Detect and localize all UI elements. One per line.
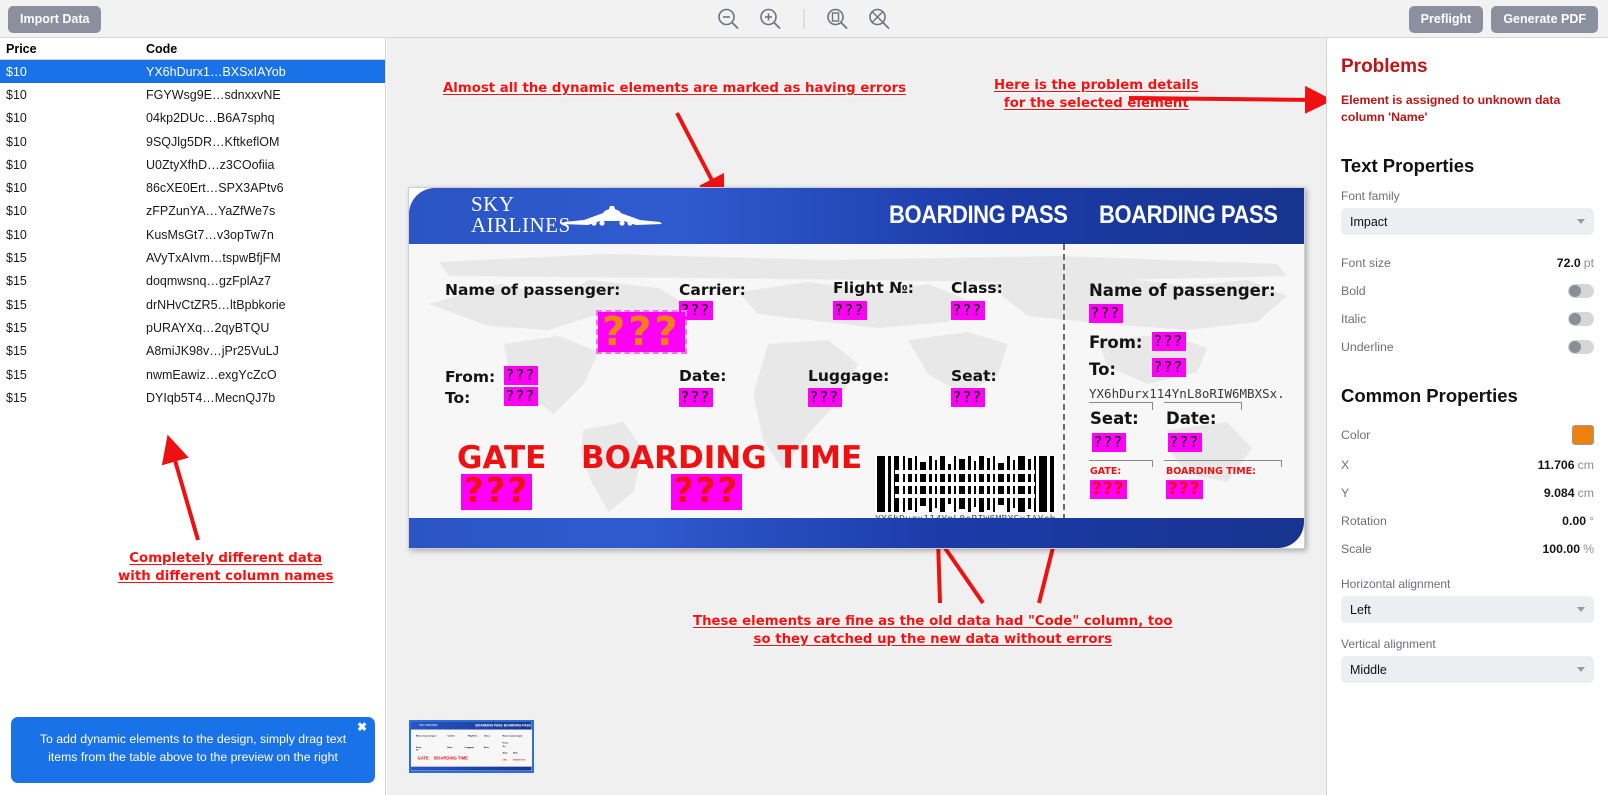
vertical-alignment-select[interactable]: Middle [1341,656,1594,683]
scale-label: Scale [1341,542,1372,556]
stub-field-gate-placeholder[interactable]: ??? [1090,480,1127,499]
font-size-row[interactable]: Font size 72.0pt [1341,249,1594,277]
vertical-alignment-label: Vertical alignment [1341,637,1594,651]
color-swatch[interactable] [1572,425,1594,445]
annotation-different-data: Completely different datawith different … [118,550,333,586]
field-from-placeholder[interactable]: ??? [504,366,538,385]
field-luggage-placeholder[interactable]: ??? [808,388,842,407]
annotation-arrow-left [0,0,400,795]
field-name-of-passenger-selected[interactable]: ??? [598,312,685,352]
label-seat: Seat: [951,367,997,385]
x-row[interactable]: X 11.706cm [1341,451,1594,479]
label-name-of-passenger: Name of passenger: [445,281,620,299]
annotation-problem-details: Here is the problem detailsfor the selec… [994,77,1199,113]
x-value: 11.706 [1538,458,1575,472]
chevron-down-icon [1577,607,1585,612]
zoom-out-icon[interactable] [716,6,742,32]
zoom-fit-page-icon[interactable] [825,6,851,32]
label-class: Class: [951,279,1003,297]
common-properties-title: Common Properties [1341,385,1594,407]
field-date-placeholder[interactable]: ??? [679,388,713,407]
stub-label-from: From: [1089,333,1142,352]
page-thumbnail-preview: SKY AIRLINES BOARDING PASS BOARDING PASS… [411,722,532,771]
x-unit: cm [1578,458,1594,472]
italic-row[interactable]: Italic [1341,305,1594,333]
stub-field-to-placeholder[interactable]: ??? [1152,358,1186,377]
font-size-label: Font size [1341,256,1391,270]
horizontal-alignment-select[interactable]: Left [1341,596,1594,623]
problems-title: Problems [1341,56,1594,78]
label-flight-no: Flight №: [833,279,914,297]
y-label: Y [1341,486,1349,500]
stub-label-name-of-passenger: Name of passenger: [1089,281,1276,300]
design-canvas[interactable]: Almost all the dynamic elements are mark… [387,38,1326,795]
underline-row[interactable]: Underline [1341,333,1594,361]
stub-field-from-placeholder[interactable]: ??? [1152,332,1186,351]
title-boarding-pass-main: BOARDING PASS [889,201,1067,230]
font-family-value: Impact [1350,215,1388,229]
y-row[interactable]: Y 9.084cm [1341,479,1594,507]
zoom-fit-all-icon[interactable] [867,6,893,32]
zoom-controls [716,6,893,32]
zoom-in-icon[interactable] [758,6,784,32]
font-size-value: 72.0 [1557,256,1581,270]
stub-code-text[interactable]: YX6hDurx114YnL8oRIW6MBXSx. [1089,386,1285,401]
field-seat-placeholder[interactable]: ??? [951,388,985,407]
font-family-select[interactable]: Impact [1341,208,1594,235]
label-date: Date: [679,367,726,385]
rotation-value: 0.00 [1562,514,1586,528]
label-from: From: [445,368,495,386]
rotation-row[interactable]: Rotation 0.00° [1341,507,1594,535]
stub-label-seat: Seat: [1090,409,1139,428]
scale-unit: % [1583,542,1594,556]
italic-toggle[interactable] [1568,312,1594,326]
toolbar-divider [804,9,805,29]
color-row[interactable]: Color [1341,419,1594,451]
chevron-down-icon [1577,667,1585,672]
label-carrier: Carrier: [679,281,746,299]
bold-toggle[interactable] [1568,284,1594,298]
horizontal-alignment-label: Horizontal alignment [1341,577,1594,591]
problem-message: Element is assigned to unknown data colu… [1341,92,1594,125]
font-family-label: Font family [1341,189,1594,203]
horizontal-alignment-value: Left [1350,603,1371,617]
document-footer-band [409,518,1304,548]
field-class-placeholder[interactable]: ??? [951,301,985,320]
vertical-alignment-value: Middle [1350,663,1387,677]
stub-label-boarding-time: BOARDING TIME: [1166,466,1256,477]
rotation-label: Rotation [1341,514,1387,528]
bold-row[interactable]: Bold [1341,277,1594,305]
text-properties-title: Text Properties [1341,155,1594,177]
field-boarding-time-placeholder[interactable]: ??? [671,474,742,510]
airplane-icon [554,202,664,232]
preflight-button[interactable]: Preflight [1409,6,1484,33]
toolbar-actions: Preflight Generate PDF [1409,6,1598,33]
underline-toggle[interactable] [1568,340,1594,354]
stub-label-date: Date: [1166,409,1217,428]
stub-field-date-date-placeholder[interactable]: ??? [1168,433,1202,452]
scale-value: 100.00 [1542,542,1580,556]
stub-field-name-placeholder[interactable]: ??? [1089,304,1123,323]
y-unit: cm [1578,486,1594,500]
boarding-pass-document[interactable]: SKYAIRLINES BOARDING PASS BOARDING PASS [408,187,1305,549]
chevron-down-icon [1577,219,1585,224]
barcode-graphic [875,456,1057,512]
label-to: To: [445,389,470,407]
field-to-placeholder[interactable]: ??? [504,387,538,406]
stub-label-gate: GATE: [1090,466,1121,477]
underline-label: Underline [1341,340,1394,354]
perforation-divider [1063,244,1065,520]
italic-label: Italic [1341,312,1366,326]
annotation-dynamic-errors: Almost all the dynamic elements are mark… [443,80,906,98]
x-label: X [1341,458,1349,472]
label-luggage: Luggage: [808,367,889,385]
properties-panel: Problems Element is assigned to unknown … [1326,38,1608,795]
y-value: 9.084 [1544,486,1575,500]
stub-label-to: To: [1089,360,1116,379]
annotation-elements-fine: These elements are fine as the old data … [693,613,1173,649]
page-thumbnail[interactable]: SKY AIRLINES BOARDING PASS BOARDING PASS… [409,720,534,773]
title-boarding-pass-stub: BOARDING PASS [1099,201,1277,230]
font-size-unit: pt [1584,256,1594,270]
document-header-band: SKYAIRLINES BOARDING PASS BOARDING PASS [409,188,1304,244]
stub-field-boarding-time-placeholder[interactable]: ??? [1166,480,1203,499]
field-flight-no-placeholder[interactable]: ??? [833,301,867,320]
generate-pdf-button[interactable]: Generate PDF [1491,6,1598,33]
bold-label: Bold [1341,284,1366,298]
rotation-unit: ° [1589,514,1594,528]
field-gate-placeholder[interactable]: ??? [461,474,532,510]
stub-field-seat-placeholder[interactable]: ??? [1092,433,1126,452]
color-label: Color [1341,428,1370,442]
scale-row[interactable]: Scale 100.00% [1341,535,1594,563]
